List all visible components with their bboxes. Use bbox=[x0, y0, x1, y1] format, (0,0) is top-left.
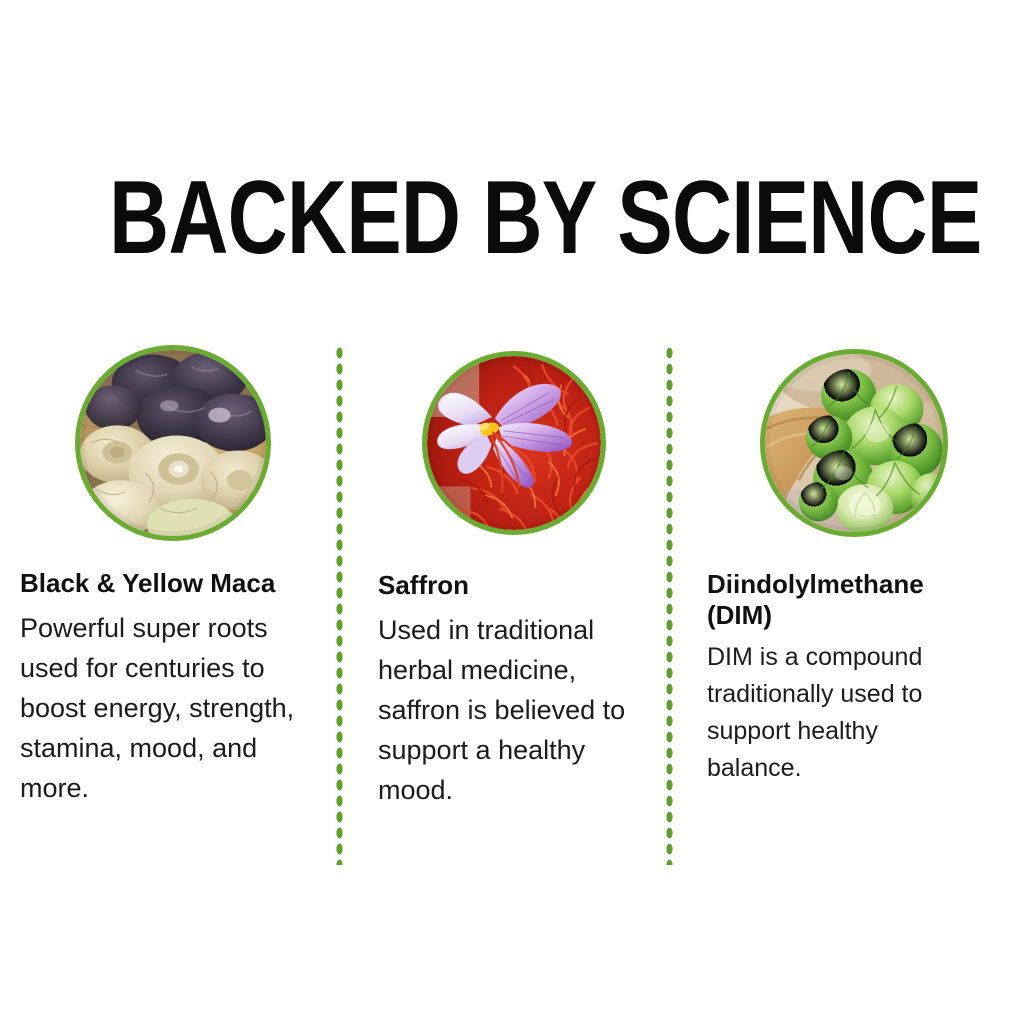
brussels-sprouts-photo bbox=[765, 354, 943, 532]
ingredient-card-dim: Diindolylmethane (DIM) DIM is a compound… bbox=[707, 345, 969, 885]
ingredient-columns: Black & Yellow Maca Powerful super roots… bbox=[0, 345, 1024, 885]
page-title-container: BACKED BY SCIENCE bbox=[0, 96, 1024, 339]
ingredient-heading: Saffron bbox=[378, 570, 653, 600]
ingredient-card-saffron: Saffron Used in traditional herbal medic… bbox=[378, 345, 653, 885]
saffron-image-circle bbox=[422, 351, 606, 535]
ingredient-card-maca: Black & Yellow Maca Powerful super roots… bbox=[20, 345, 320, 885]
page-title: BACKED BY SCIENCE bbox=[109, 166, 981, 270]
ingredient-description: Powerful super roots used for centuries … bbox=[20, 608, 320, 808]
dim-image-circle bbox=[760, 349, 948, 537]
backed-by-science-infographic: { "page": { "background_color": "#ffffff… bbox=[0, 0, 1024, 1024]
maca-roots-photo bbox=[80, 350, 266, 536]
ingredient-heading: Black & Yellow Maca bbox=[20, 568, 320, 598]
ingredient-description: Used in traditional herbal medicine, saf… bbox=[378, 610, 653, 810]
saffron-crocus-photo bbox=[427, 356, 601, 530]
ingredient-description: DIM is a compound traditionally used to … bbox=[707, 639, 969, 787]
maca-image-circle bbox=[75, 345, 271, 541]
ingredient-heading: Diindolylmethane (DIM) bbox=[707, 569, 969, 631]
